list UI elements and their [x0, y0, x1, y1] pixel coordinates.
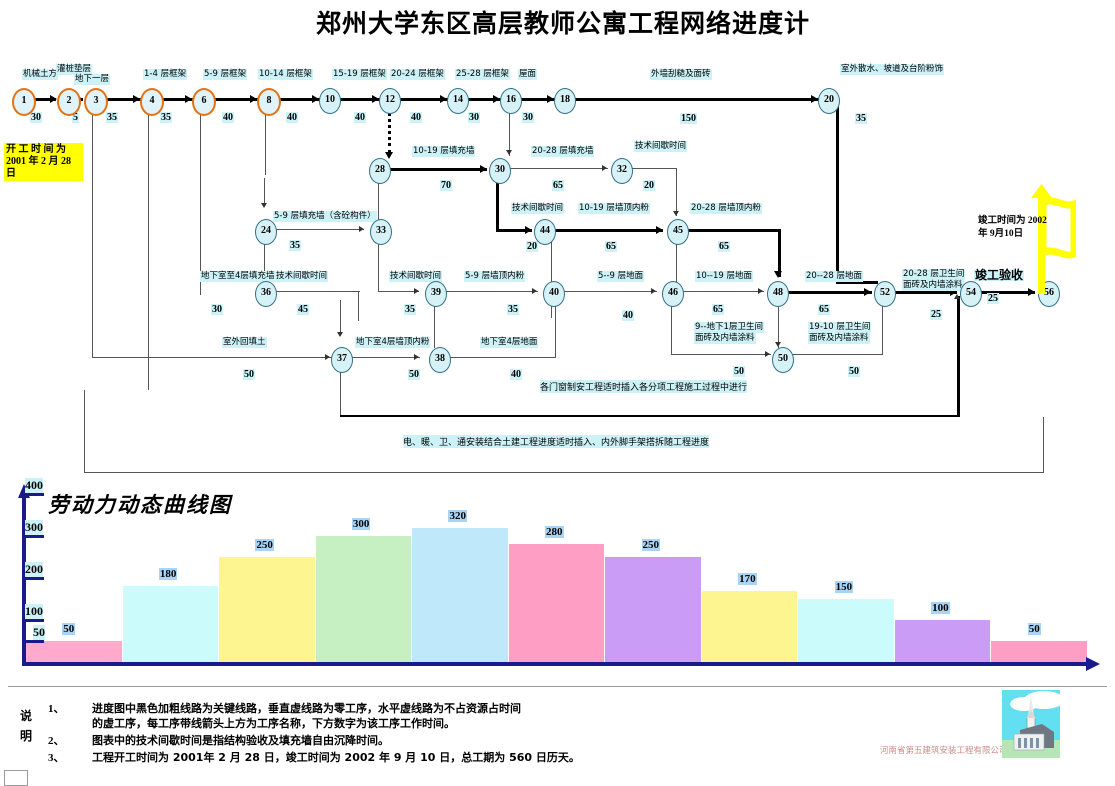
y-axis-tick: [26, 640, 44, 643]
activity-label: 室外散水、坡道及台阶粉饰: [840, 64, 944, 75]
chart-bar-label: 320: [448, 510, 467, 522]
activity-duration: 65: [718, 241, 730, 252]
y-axis-label: 100: [25, 604, 43, 619]
activity-label: 10-19 层墙顶内粉: [578, 203, 650, 214]
chart-bar-label: 180: [159, 568, 178, 580]
network-node-28[interactable]: 28: [369, 158, 391, 184]
activity-label: 技术间歇时间: [511, 203, 564, 214]
activity-label: 10-19 层填充墙: [412, 146, 475, 157]
y-axis-label: 300: [25, 520, 43, 535]
activity-duration: 150: [680, 113, 697, 124]
activity-duration: 25: [930, 309, 942, 320]
activity-label: 20-28 层墙顶内粉: [690, 203, 762, 214]
network-node-48[interactable]: 48: [767, 281, 789, 307]
network-node-12[interactable]: 12: [379, 88, 401, 114]
chart-bar: [316, 536, 412, 662]
activity-duration: 40: [410, 112, 422, 123]
activity-duration: 50: [408, 369, 420, 380]
activity-label: 20-28 层填充墙: [531, 146, 594, 157]
chart-bar: [509, 544, 605, 662]
chart-bar-label: 300: [352, 518, 371, 530]
network-node-18[interactable]: 18: [554, 88, 576, 114]
network-node-2[interactable]: 2: [57, 88, 81, 116]
activity-duration: 30: [522, 112, 534, 123]
chart-bar: [26, 641, 122, 662]
activity-duration: 35: [289, 240, 301, 251]
activity-label: 室外回填土: [222, 337, 267, 348]
chart-bar: [895, 620, 991, 662]
activity-duration: 65: [712, 304, 724, 315]
footer-divider: [8, 686, 1107, 687]
network-node-38[interactable]: 38: [429, 347, 451, 373]
activity-label: 机械土方: [22, 69, 58, 80]
activity-label: 10-14 层框架: [258, 69, 313, 80]
activity-label: 外墙刮糙及面砖: [650, 69, 712, 80]
chart-bar: [605, 557, 701, 662]
chart-bars: [26, 494, 1090, 662]
network-node-8[interactable]: 8: [257, 88, 281, 116]
activity-duration: 35: [507, 304, 519, 315]
activity-duration: 45: [297, 304, 309, 315]
network-node-33[interactable]: 33: [370, 219, 392, 245]
network-node-39[interactable]: 39: [425, 281, 447, 307]
activity-label: 15-19 层框架: [332, 69, 387, 80]
activity-label: 5-9 层填充墙（含砼构件）: [273, 211, 377, 222]
network-node-24[interactable]: 24: [255, 219, 277, 245]
y-axis-label: 50: [33, 625, 45, 640]
chart-bar-label: 250: [255, 539, 274, 551]
chart-bar-label: 170: [738, 573, 757, 585]
network-node-40[interactable]: 40: [543, 281, 565, 307]
y-axis-tick: [26, 577, 44, 580]
network-node-46[interactable]: 46: [662, 281, 684, 307]
activity-label: 20-28 层卫生间: [902, 269, 965, 280]
activity-label: 技术间歇时间: [275, 271, 328, 282]
network-node-16[interactable]: 16: [500, 88, 522, 114]
company-name: 河南省第五建筑安装工程有限公司: [880, 744, 1008, 756]
activity-label: 屋面: [518, 69, 537, 80]
activity-duration: 40: [622, 310, 634, 321]
activity-label: 10--19 层地面: [695, 271, 753, 282]
activity-duration: 35: [404, 304, 416, 315]
activity-label: 5-9 层框架: [203, 69, 247, 80]
activity-label: 地下室4层地面: [480, 337, 538, 348]
activity-duration: 35: [855, 113, 867, 124]
chart-bar-label: 280: [545, 526, 564, 538]
network-node-3[interactable]: 3: [84, 88, 108, 116]
activity-label: 地下一层: [74, 74, 110, 85]
chart-bar-label: 100: [931, 602, 950, 614]
activity-duration: 50: [733, 366, 745, 377]
chart-bar-label: 250: [642, 539, 661, 551]
chart-bar-label: 50: [62, 623, 75, 635]
footer-note-number: 3、: [48, 749, 65, 765]
activity-label: 技术间歇时间: [634, 141, 687, 152]
footer-note-text: 图表中的技术间歇时间是指结构验收及填充墙自由沉降时间。: [92, 732, 389, 748]
network-node-30[interactable]: 30: [489, 158, 511, 184]
activity-duration: 30: [211, 304, 223, 315]
activity-duration: 65: [818, 304, 830, 315]
footer-heading-char-1: 说: [20, 707, 32, 724]
page-title: 郑州大学东区高层教师公寓工程网络进度计: [283, 4, 843, 40]
activity-label: 1-4 层框架: [143, 69, 187, 80]
activity-label: 20--28 层地面: [805, 271, 863, 282]
activity-duration: 40: [510, 369, 522, 380]
chart-bar: [702, 591, 798, 662]
footer-heading-char-2: 明: [20, 727, 32, 744]
footer-note-text: 工程开工时间为 2001年 2 月 28 日，竣工时间为 2002 年 9 月 …: [92, 749, 580, 765]
y-axis-tick: [26, 619, 44, 622]
start-date-note: 开 工 时 间 为 2001 年 2 月 28 日: [4, 143, 83, 181]
chart-bar: [219, 557, 315, 662]
activity-duration: 35: [160, 112, 172, 123]
network-note: 电、暖、卫、通安装结合土建工程进度适时插入、内外脚手架搭拆随工程进度: [403, 435, 709, 448]
network-node-6[interactable]: 6: [192, 88, 216, 116]
network-node-1[interactable]: 1: [12, 88, 36, 116]
x-axis-arrow-icon: [1086, 657, 1100, 671]
chart-bar: [412, 528, 508, 662]
activity-duration: 20: [643, 180, 655, 191]
network-node-32[interactable]: 32: [611, 158, 633, 184]
chart-bar-label: 150: [835, 581, 854, 593]
activity-label: 地下室4层墙顶内粉: [355, 337, 430, 348]
activity-label: 25-28 层框架: [455, 69, 510, 80]
activity-duration: 40: [286, 112, 298, 123]
activity-duration: 30: [30, 112, 42, 123]
footer-note-text: 进度图中黑色加粗线路为关键线路，垂直虚线路为零工序，水平虚线路为不占资源占时间: [92, 700, 521, 716]
activity-label: 5--9 层地面: [597, 271, 644, 282]
chart-bar: [991, 641, 1087, 662]
finish-date-note: 竣工时间为 2002年 9月10日: [978, 215, 1056, 241]
activity-duration: 50: [243, 369, 255, 380]
network-note: 各门窗制安工程适时插入各分项工程施工过程中进行: [540, 380, 747, 393]
footer-note-number: 2、: [48, 732, 65, 748]
chart-bar-label: 50: [1028, 623, 1041, 635]
network-node-20[interactable]: 20: [818, 88, 840, 114]
x-axis: [22, 662, 1090, 666]
company-logo: [1002, 690, 1060, 758]
y-axis-tick: [26, 535, 44, 538]
activity-label: 19-10 层卫生间: [808, 322, 871, 333]
activity-duration: 65: [552, 180, 564, 191]
chart-bar: [798, 599, 894, 662]
network-node-14[interactable]: 14: [447, 88, 469, 114]
activity-label: 面砖及内墙涂料: [902, 280, 964, 291]
network-node-54[interactable]: 54: [960, 281, 982, 307]
activity-duration: 40: [222, 112, 234, 123]
activity-duration: 50: [848, 366, 860, 377]
network-node-36[interactable]: 36: [255, 281, 277, 307]
network-progress-plan-page: 郑州大学东区高层教师公寓工程网络进度计 开 工 时 间 为 2001 年 2 月…: [0, 0, 1115, 779]
activity-duration: 20: [526, 241, 538, 252]
footer-note-text: 的虚工序，每工序带线箭头上方为工序名称，下方数字为该工序工作时间。: [92, 715, 455, 731]
network-node-45[interactable]: 45: [667, 219, 689, 245]
chart-title: 劳动力动态曲线图: [48, 489, 232, 519]
activity-duration: 25: [987, 293, 999, 304]
network-node-44[interactable]: 44: [534, 219, 556, 245]
network-node-4[interactable]: 4: [140, 88, 164, 116]
activity-label: 面砖及内墙涂料: [694, 333, 756, 344]
footer-note-number: 1、: [48, 700, 65, 716]
activity-label: 5-9 层墙顶内粉: [464, 271, 525, 282]
activity-duration: 40: [354, 112, 366, 123]
y-axis-label: 200: [25, 562, 43, 577]
network-node-10[interactable]: 10: [319, 88, 341, 114]
activity-label: 面砖及内墙涂料: [808, 333, 870, 344]
network-node-37[interactable]: 37: [331, 347, 353, 373]
page-marker: [4, 770, 28, 786]
activity-duration: 35: [106, 112, 118, 123]
activity-label: 20-24 层框架: [390, 69, 445, 80]
activity-duration: 65: [605, 241, 617, 252]
activity-duration: 30: [468, 112, 480, 123]
activity-label: 9--地下1层卫生间: [694, 322, 764, 333]
network-node-52[interactable]: 52: [874, 281, 896, 307]
network-node-50[interactable]: 50: [772, 347, 794, 373]
activity-duration: 70: [440, 180, 452, 191]
y-axis-label: 400: [25, 478, 43, 493]
chart-bar: [123, 586, 219, 662]
